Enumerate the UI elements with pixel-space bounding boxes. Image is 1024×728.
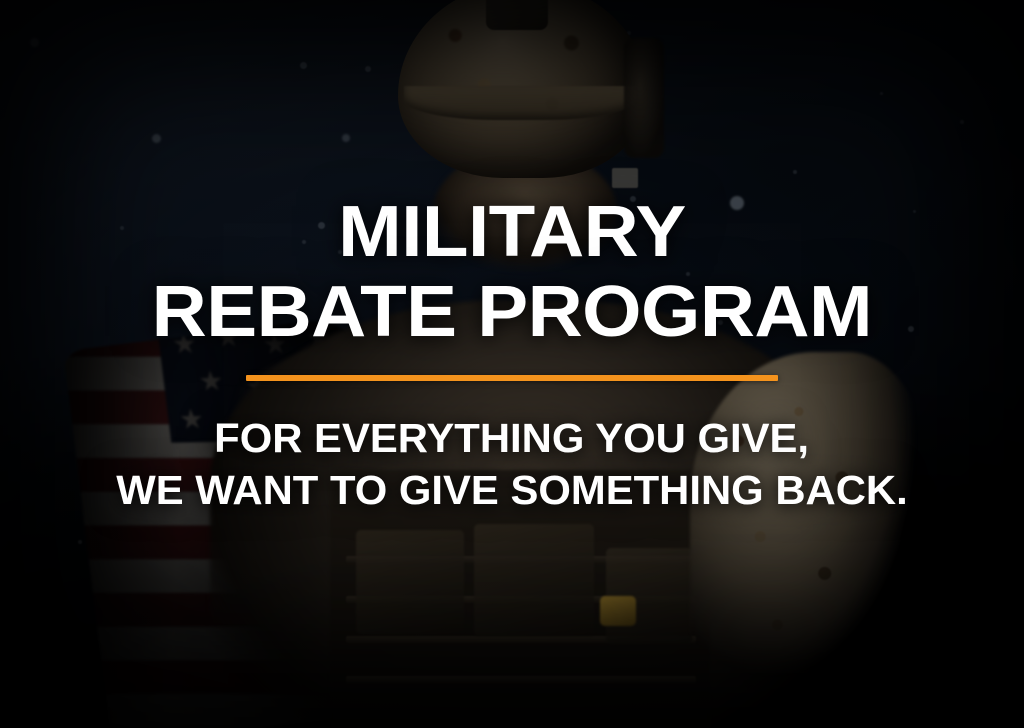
orange-divider: [246, 375, 778, 381]
military-rebate-program-banner: MILITARY REBATE PROGRAM FOR EVERYTHING Y…: [0, 0, 1024, 728]
headline-line-1: MILITARY: [338, 198, 686, 266]
subheadline-line-1: FOR EVERYTHING YOU GIVE,: [215, 417, 810, 460]
headline-line-2: REBATE PROGRAM: [152, 278, 872, 346]
subheadline-line-2: WE WANT TO GIVE SOMETHING BACK.: [116, 469, 908, 512]
banner-content: MILITARY REBATE PROGRAM FOR EVERYTHING Y…: [0, 0, 1024, 728]
